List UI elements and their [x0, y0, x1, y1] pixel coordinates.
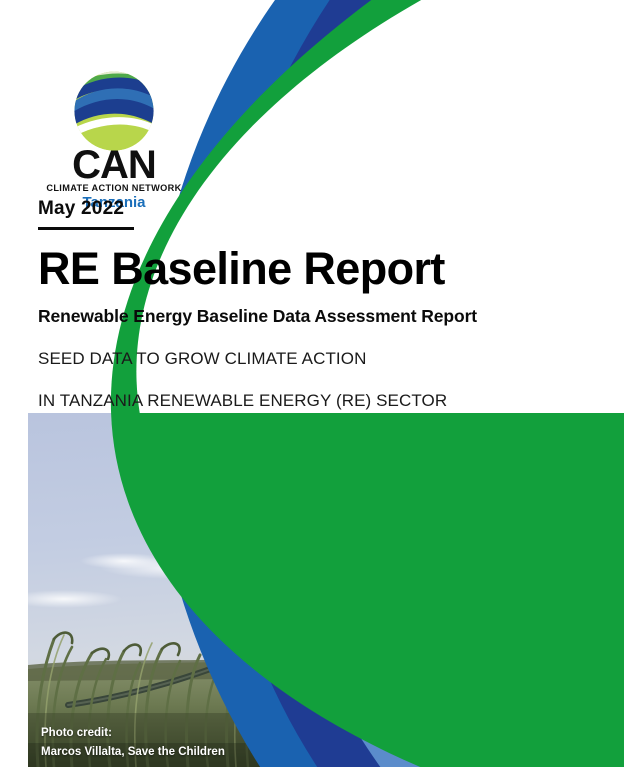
can-tanzania-logo: CAN CLIMATE ACTION NETWORK Tanzania — [44, 68, 184, 211]
logo-tagline: CLIMATE ACTION NETWORK — [44, 183, 184, 193]
date-underline-rule — [38, 227, 134, 230]
photo-illustration — [28, 413, 624, 767]
page-title: RE Baseline Report — [38, 243, 477, 295]
report-cover-page: CAN CLIMATE ACTION NETWORK Tanzania May … — [0, 0, 624, 767]
publication-date: May 2022 — [38, 198, 477, 220]
globe-swoosh-icon — [71, 68, 157, 154]
photo-credit: Photo credit: Marcos Villalta, Save the … — [41, 724, 225, 762]
cover-text-block: May 2022 RE Baseline Report Renewable En… — [38, 198, 477, 411]
tagline-line-2: IN TANZANIA RENEWABLE ENERGY (RE) SECTOR — [38, 391, 477, 411]
cover-photograph — [28, 413, 624, 767]
logo-acronym: CAN — [44, 148, 184, 182]
tagline-line-1: SEED DATA TO GROW CLIMATE ACTION — [38, 349, 477, 369]
photo-credit-name: Marcos Villalta, Save the Children — [41, 743, 225, 762]
page-subtitle: Renewable Energy Baseline Data Assessmen… — [38, 306, 477, 327]
photo-credit-label: Photo credit: — [41, 724, 225, 743]
